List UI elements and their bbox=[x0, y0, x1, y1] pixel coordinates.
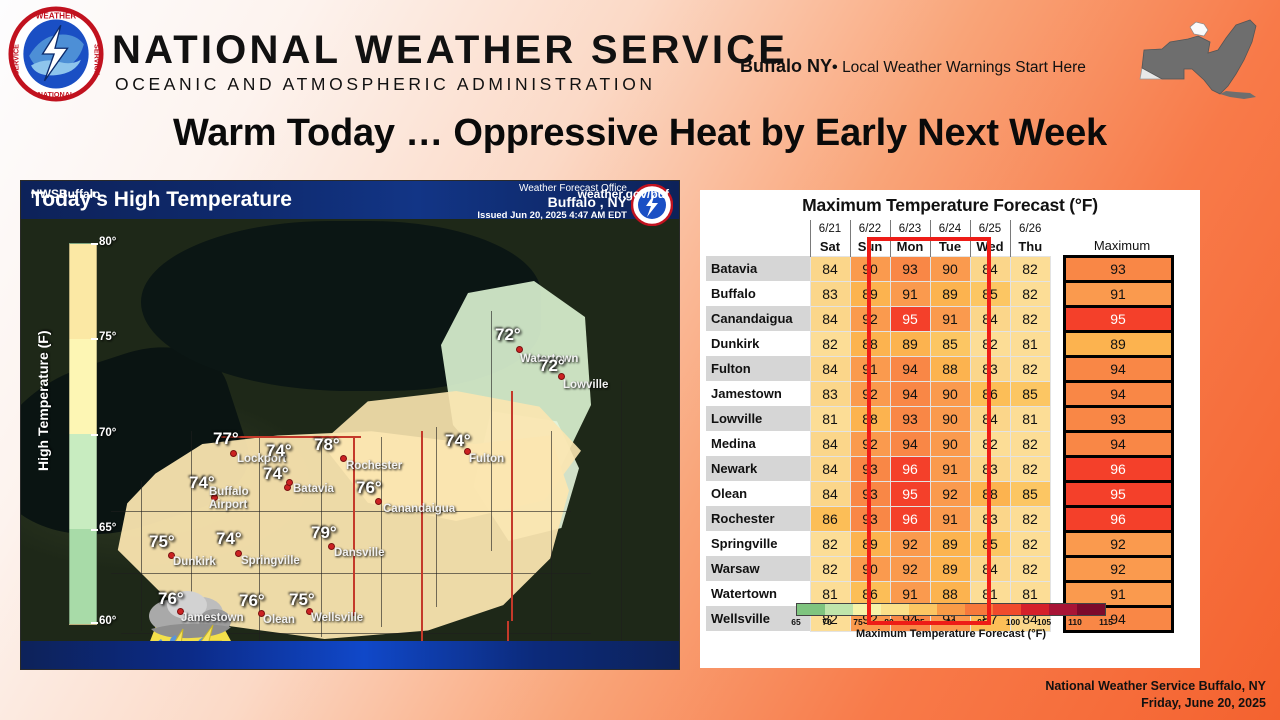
forecast-cell-sun: 90 bbox=[850, 256, 890, 281]
table-header-day-thu: Thu bbox=[1010, 237, 1050, 256]
forecast-cell-sun: 89 bbox=[850, 531, 890, 556]
colorbar-tick: 115 bbox=[1099, 617, 1113, 627]
table-header-day-sat: Sat bbox=[810, 237, 850, 256]
table-head: 6/216/226/236/246/256/26 SatSunMonTueWed… bbox=[706, 220, 1172, 256]
svg-text:WEATHER: WEATHER bbox=[36, 11, 77, 20]
map-city-label: Springville bbox=[241, 555, 300, 567]
page-header: WEATHER NATIONAL SERVICE SERVICE NATIONA… bbox=[0, 0, 1280, 108]
forecast-cell-thu: 85 bbox=[1010, 381, 1050, 406]
forecast-cell-sun: 93 bbox=[850, 506, 890, 531]
table-corner-blank bbox=[706, 237, 810, 256]
nws-seal-icon: WEATHER NATIONAL SERVICE SERVICE bbox=[8, 6, 104, 102]
table-header-dates: 6/216/226/236/246/256/26 bbox=[706, 220, 1172, 237]
table-gap bbox=[1050, 237, 1064, 256]
forecast-cell-wed: 84 bbox=[970, 256, 1010, 281]
forecast-cell-wed: 86 bbox=[970, 381, 1010, 406]
map-footer-bar bbox=[21, 641, 680, 669]
map-station-dot bbox=[230, 450, 237, 457]
table-row: Dunkirk82888985828189 bbox=[706, 331, 1172, 356]
map-url: weather.gov/buf bbox=[578, 187, 669, 201]
forecast-cell-sat: 84 bbox=[810, 456, 850, 481]
office-name: Buffalo NY bbox=[740, 56, 832, 76]
table-row-city-springville: Springville bbox=[706, 531, 810, 556]
highway-route bbox=[221, 436, 361, 438]
forecast-cell-mon: 96 bbox=[890, 456, 930, 481]
map-city-label: Batavia bbox=[293, 483, 334, 495]
forecast-cell-thu: 82 bbox=[1010, 356, 1050, 381]
colorbar-tick: 85 bbox=[915, 617, 924, 627]
table-gap bbox=[1050, 431, 1064, 456]
map-temp-label: 79° bbox=[311, 523, 337, 543]
table-header-day-tue: Tue bbox=[930, 237, 970, 256]
forecast-cell-sun: 88 bbox=[850, 406, 890, 431]
maximum-cell: 95 bbox=[1064, 306, 1172, 331]
table-header-date-tue: 6/24 bbox=[930, 220, 970, 237]
nws-wordmark: NATIONAL WEATHER SERVICE OCEANIC AND ATM… bbox=[112, 30, 788, 95]
table-row: Olean84939592888595 bbox=[706, 481, 1172, 506]
svg-text:NATIONAL: NATIONAL bbox=[38, 90, 75, 99]
table-gap bbox=[1050, 481, 1064, 506]
forecast-cell-thu: 82 bbox=[1010, 431, 1050, 456]
table-row: Warsaw82909289848292 bbox=[706, 556, 1172, 581]
tagline-text: Local Weather Warnings Start Here bbox=[842, 59, 1086, 76]
table-row-city-medina: Medina bbox=[706, 431, 810, 456]
forecast-cell-tue: 85 bbox=[930, 331, 970, 356]
forecast-cell-sun: 90 bbox=[850, 556, 890, 581]
colorbar-swatch bbox=[1077, 604, 1105, 615]
table-header-day-wed: Wed bbox=[970, 237, 1010, 256]
table-colorbar: 65707580859095100105110115 Maximum Tempe… bbox=[796, 603, 1106, 640]
forecast-cell-mon: 92 bbox=[890, 556, 930, 581]
table-row: Medina84929490828294 bbox=[706, 431, 1172, 456]
forecast-cell-mon: 89 bbox=[890, 331, 930, 356]
forecast-cell-sat: 81 bbox=[810, 406, 850, 431]
table-title: Maximum Temperature Forecast (°F) bbox=[700, 190, 1200, 216]
maximum-cell: 94 bbox=[1064, 431, 1172, 456]
org-title: NATIONAL WEATHER SERVICE bbox=[112, 30, 788, 70]
forecast-cell-thu: 81 bbox=[1010, 406, 1050, 431]
colorbar-swatch bbox=[881, 604, 909, 615]
forecast-cell-sat: 83 bbox=[810, 281, 850, 306]
map-temp-label: 72° bbox=[495, 325, 521, 345]
forecast-cell-tue: 90 bbox=[930, 256, 970, 281]
max-temperature-forecast-table-panel: Maximum Temperature Forecast (°F) 6/216/… bbox=[700, 190, 1200, 668]
table-gap bbox=[1050, 456, 1064, 481]
colorbar-swatch bbox=[965, 604, 993, 615]
forecast-cell-mon: 96 bbox=[890, 506, 930, 531]
table-row-city-fulton: Fulton bbox=[706, 356, 810, 381]
map-city-label-line1: Buffalo bbox=[209, 486, 249, 499]
forecast-cell-sun: 88 bbox=[850, 331, 890, 356]
forecast-cell-thu: 82 bbox=[1010, 281, 1050, 306]
forecast-cell-tue: 89 bbox=[930, 531, 970, 556]
forecast-cell-sat: 84 bbox=[810, 256, 850, 281]
map-temp-label: 77° bbox=[213, 429, 239, 449]
county-boundary bbox=[436, 427, 437, 607]
page-footer: National Weather Service Buffalo, NY Fri… bbox=[1045, 678, 1266, 712]
maximum-cell: 93 bbox=[1064, 406, 1172, 431]
forecast-cell-tue: 89 bbox=[930, 281, 970, 306]
forecast-cell-wed: 84 bbox=[970, 306, 1010, 331]
forecast-cell-mon: 94 bbox=[890, 356, 930, 381]
table-gap bbox=[1050, 356, 1064, 381]
forecast-cell-wed: 83 bbox=[970, 506, 1010, 531]
forecast-cell-wed: 85 bbox=[970, 531, 1010, 556]
forecast-cell-sun: 92 bbox=[850, 381, 890, 406]
county-boundary bbox=[491, 311, 492, 551]
map-station-dot bbox=[516, 346, 523, 353]
forecast-cell-thu: 82 bbox=[1010, 556, 1050, 581]
map-city-label: Wellsville bbox=[311, 612, 363, 624]
map-temp-label: 76° bbox=[356, 478, 382, 498]
map-city-label: Fulton bbox=[469, 453, 504, 465]
table-header-date-mon: 6/23 bbox=[890, 220, 930, 237]
table-row-city-batavia: Batavia bbox=[706, 256, 810, 281]
org-subtitle: OCEANIC AND ATMOSPHERIC ADMINISTRATION bbox=[112, 74, 788, 95]
map-temp-label: 76° bbox=[158, 589, 184, 609]
forecast-cell-tue: 88 bbox=[930, 356, 970, 381]
colorbar-tick: 110 bbox=[1068, 617, 1082, 627]
highway-route bbox=[421, 431, 423, 661]
highway-route bbox=[511, 391, 513, 621]
forecast-cell-mon: 95 bbox=[890, 481, 930, 506]
forecast-cell-sat: 84 bbox=[810, 306, 850, 331]
forecast-cell-wed: 83 bbox=[970, 356, 1010, 381]
table-header-days: SatSunMonTueWedThuMaximum bbox=[706, 237, 1172, 256]
forecast-cell-thu: 81 bbox=[1010, 331, 1050, 356]
forecast-cell-tue: 90 bbox=[930, 381, 970, 406]
table-gap bbox=[1050, 306, 1064, 331]
colorbar-tick: 80 bbox=[884, 617, 893, 627]
forecast-cell-tue: 90 bbox=[930, 431, 970, 456]
table-header-date-sat: 6/21 bbox=[810, 220, 850, 237]
maximum-cell: 92 bbox=[1064, 556, 1172, 581]
colorbar-tick: 95 bbox=[977, 617, 986, 627]
map-city-label: Jamestown bbox=[181, 612, 244, 624]
table-gap bbox=[1064, 220, 1172, 237]
legend-tick-65: 65° bbox=[99, 522, 116, 534]
table-header-day-mon: Mon bbox=[890, 237, 930, 256]
map-station-dot bbox=[286, 479, 293, 486]
colorbar-tick: 70 bbox=[822, 617, 831, 627]
map-city-label: Olean bbox=[263, 614, 295, 626]
legend-tick-70: 70° bbox=[99, 427, 116, 439]
forecast-cell-wed: 82 bbox=[970, 431, 1010, 456]
table-colorbar-ticks: 65707580859095100105110115 bbox=[796, 616, 1106, 629]
colorbar-tick: 105 bbox=[1037, 617, 1051, 627]
forecast-cell-sat: 82 bbox=[810, 531, 850, 556]
footer-date: Friday, June 20, 2025 bbox=[1045, 695, 1266, 712]
map-city-label: Dansville bbox=[334, 547, 385, 559]
map-temp-label: 74° bbox=[266, 441, 292, 461]
maximum-cell: 91 bbox=[1064, 281, 1172, 306]
colorbar-swatch bbox=[853, 604, 881, 615]
colorbar-swatch bbox=[909, 604, 937, 615]
map-temp-label: 76° bbox=[239, 591, 265, 611]
table-row: Rochester86939691838296 bbox=[706, 506, 1172, 531]
table-colorbar-label: Maximum Temperature Forecast (°F) bbox=[796, 628, 1106, 640]
new-york-state-icon bbox=[1132, 12, 1272, 104]
table-row: Batavia84909390848293 bbox=[706, 256, 1172, 281]
table-row-city-warsaw: Warsaw bbox=[706, 556, 810, 581]
maximum-cell: 96 bbox=[1064, 456, 1172, 481]
forecast-cell-wed: 84 bbox=[970, 556, 1010, 581]
colorbar-swatch bbox=[825, 604, 853, 615]
office-tagline: Buffalo NY• Local Weather Warnings Start… bbox=[740, 56, 1086, 77]
forecast-cell-thu: 82 bbox=[1010, 531, 1050, 556]
forecast-table: 6/216/226/236/246/256/26 SatSunMonTueWed… bbox=[706, 220, 1174, 633]
forecast-cell-mon: 92 bbox=[890, 531, 930, 556]
table-gap bbox=[1050, 556, 1064, 581]
map-temp-label: 75° bbox=[149, 532, 175, 552]
table-row: Canandaigua84929591848295 bbox=[706, 306, 1172, 331]
table-gap bbox=[1050, 220, 1064, 237]
map-station-dot bbox=[375, 498, 382, 505]
forecast-cell-tue: 90 bbox=[930, 406, 970, 431]
forecast-cell-thu: 82 bbox=[1010, 506, 1050, 531]
table-row-city-buffalo: Buffalo bbox=[706, 281, 810, 306]
maximum-cell: 94 bbox=[1064, 356, 1172, 381]
table-header-date-wed: 6/25 bbox=[970, 220, 1010, 237]
forecast-cell-tue: 91 bbox=[930, 456, 970, 481]
forecast-cell-mon: 95 bbox=[890, 306, 930, 331]
maximum-cell: 96 bbox=[1064, 506, 1172, 531]
legend-tick-75: 75° bbox=[99, 331, 116, 343]
forecast-cell-sat: 84 bbox=[810, 356, 850, 381]
table-row-city-newark: Newark bbox=[706, 456, 810, 481]
forecast-cell-wed: 84 bbox=[970, 406, 1010, 431]
forecast-cell-sat: 86 bbox=[810, 506, 850, 531]
forecast-cell-thu: 82 bbox=[1010, 256, 1050, 281]
legend-tick-80: 80° bbox=[99, 236, 116, 248]
colorbar-swatch bbox=[1021, 604, 1049, 615]
county-boundary bbox=[111, 511, 571, 512]
colorbar-tick: 90 bbox=[946, 617, 955, 627]
forecast-cell-wed: 83 bbox=[970, 456, 1010, 481]
table-corner-blank bbox=[706, 220, 810, 237]
forecast-cell-wed: 82 bbox=[970, 331, 1010, 356]
forecast-cell-mon: 91 bbox=[890, 281, 930, 306]
map-temp-label: 74° bbox=[263, 464, 289, 484]
map-city-label: Dunkirk bbox=[173, 556, 216, 568]
table-row: Lowville81889390848193 bbox=[706, 406, 1172, 431]
page-title: Warm Today … Oppressive Heat by Early Ne… bbox=[0, 112, 1280, 155]
table-row-city-rochester: Rochester bbox=[706, 506, 810, 531]
map-temp-label: 78° bbox=[314, 435, 340, 455]
forecast-cell-sun: 92 bbox=[850, 431, 890, 456]
forecast-cell-sat: 83 bbox=[810, 381, 850, 406]
table-gap bbox=[1050, 256, 1064, 281]
table-row: Newark84939691838296 bbox=[706, 456, 1172, 481]
svg-text:SERVICE: SERVICE bbox=[92, 44, 101, 76]
bullet-separator: • bbox=[832, 59, 838, 76]
forecast-cell-tue: 91 bbox=[930, 306, 970, 331]
forecast-cell-tue: 91 bbox=[930, 506, 970, 531]
table-row-city-olean: Olean bbox=[706, 481, 810, 506]
legend-tick-60: 60° bbox=[99, 615, 116, 627]
forecast-cell-thu: 82 bbox=[1010, 456, 1050, 481]
table-header-date-thu: 6/26 bbox=[1010, 220, 1050, 237]
forecast-cell-mon: 94 bbox=[890, 431, 930, 456]
forecast-cell-wed: 85 bbox=[970, 281, 1010, 306]
county-boundary bbox=[621, 381, 622, 670]
map-credit: NWSBuffalo bbox=[31, 187, 100, 201]
forecast-cell-sat: 82 bbox=[810, 556, 850, 581]
map-city-label-buffalo-airport: BuffaloAirport bbox=[209, 486, 249, 512]
table-row-city-dunkirk: Dunkirk bbox=[706, 331, 810, 356]
table-row: Buffalo83899189858291 bbox=[706, 281, 1172, 306]
forecast-cell-sat: 82 bbox=[810, 331, 850, 356]
forecast-cell-sat: 84 bbox=[810, 481, 850, 506]
map-city-label-line2: Airport bbox=[209, 499, 249, 512]
forecast-cell-mon: 93 bbox=[890, 406, 930, 431]
table-row: Springville82899289858292 bbox=[706, 531, 1172, 556]
forecast-cell-sun: 89 bbox=[850, 281, 890, 306]
map-city-label: Canandaigua bbox=[383, 503, 455, 515]
colorbar-tick: 100 bbox=[1006, 617, 1020, 627]
table-gap bbox=[1050, 506, 1064, 531]
maximum-cell: 94 bbox=[1064, 381, 1172, 406]
footer-office: National Weather Service Buffalo, NY bbox=[1045, 678, 1266, 695]
table-gap bbox=[1050, 381, 1064, 406]
maximum-cell: 92 bbox=[1064, 531, 1172, 556]
table-row-city-lowville: Lowville bbox=[706, 406, 810, 431]
maximum-cell: 93 bbox=[1064, 256, 1172, 281]
forecast-cell-sat: 84 bbox=[810, 431, 850, 456]
map-legend-axis-label: High Temperature (F) bbox=[35, 330, 51, 471]
table-header-date-sun: 6/22 bbox=[850, 220, 890, 237]
forecast-cell-thu: 82 bbox=[1010, 306, 1050, 331]
forecast-cell-sun: 93 bbox=[850, 481, 890, 506]
table-row: Jamestown83929490868594 bbox=[706, 381, 1172, 406]
forecast-cell-sun: 93 bbox=[850, 456, 890, 481]
table-body: Batavia84909390848293Buffalo838991898582… bbox=[706, 256, 1172, 631]
map-issued-time: Issued Jun 20, 2025 4:47 AM EDT bbox=[477, 210, 627, 221]
table-gap bbox=[1050, 331, 1064, 356]
map-temp-label: 75° bbox=[289, 590, 315, 610]
forecast-cell-tue: 89 bbox=[930, 556, 970, 581]
colorbar-swatch bbox=[937, 604, 965, 615]
forecast-cell-thu: 85 bbox=[1010, 481, 1050, 506]
table-header-day-sun: Sun bbox=[850, 237, 890, 256]
maximum-cell: 95 bbox=[1064, 481, 1172, 506]
table-gap bbox=[1050, 531, 1064, 556]
table-header-maximum: Maximum bbox=[1064, 237, 1172, 256]
table-row-city-watertown: Watertown bbox=[706, 581, 810, 606]
forecast-cell-mon: 93 bbox=[890, 256, 930, 281]
table-colorbar-swatches bbox=[796, 603, 1106, 616]
map-temperature-legend: 80° 75° 70° 65° 60° bbox=[69, 243, 97, 625]
county-boundary bbox=[111, 573, 591, 574]
table-gap bbox=[1050, 281, 1064, 306]
svg-text:SERVICE: SERVICE bbox=[12, 44, 21, 76]
todays-high-temperature-map: Today's High Temperature Weather Forecas… bbox=[20, 180, 680, 670]
table-row: Fulton84919488838294 bbox=[706, 356, 1172, 381]
colorbar-swatch bbox=[1049, 604, 1077, 615]
county-boundary bbox=[551, 431, 552, 670]
map-city-label: Rochester bbox=[346, 460, 402, 472]
forecast-cell-wed: 88 bbox=[970, 481, 1010, 506]
table-row-city-jamestown: Jamestown bbox=[706, 381, 810, 406]
map-temp-label: 74° bbox=[216, 529, 242, 549]
forecast-cell-tue: 92 bbox=[930, 481, 970, 506]
map-city-label: Lowville bbox=[563, 379, 608, 391]
forecast-cell-sun: 91 bbox=[850, 356, 890, 381]
colorbar-swatch bbox=[797, 604, 825, 615]
colorbar-swatch bbox=[993, 604, 1021, 615]
table-row-city-canandaigua: Canandaigua bbox=[706, 306, 810, 331]
forecast-cell-mon: 94 bbox=[890, 381, 930, 406]
colorbar-tick: 75 bbox=[853, 617, 862, 627]
maximum-cell: 89 bbox=[1064, 331, 1172, 356]
forecast-cell-sun: 92 bbox=[850, 306, 890, 331]
table-gap bbox=[1050, 406, 1064, 431]
colorbar-tick: 65 bbox=[791, 617, 800, 627]
